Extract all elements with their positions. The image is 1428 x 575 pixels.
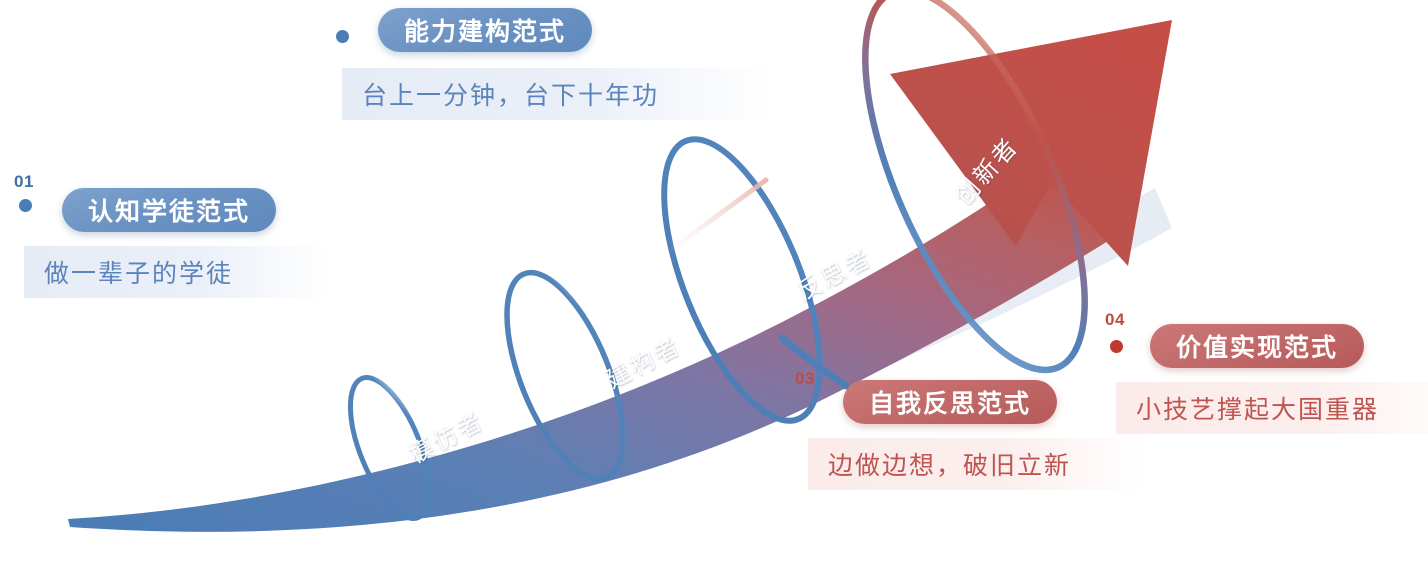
- callout-04-pill[interactable]: 价值实现范式: [1150, 324, 1364, 368]
- callout-04-number: 04: [1105, 310, 1125, 330]
- callout-03-pill[interactable]: 自我反思范式: [843, 380, 1057, 424]
- callout-01-number: 01: [14, 172, 34, 192]
- callout-02-subtitle: 台上一分钟，台下十年功: [342, 68, 772, 120]
- callout-03-number: 03: [795, 369, 815, 389]
- callout-01-pill[interactable]: 认知学徒范式: [62, 188, 276, 232]
- callout-01-subtitle: 做一辈子的学徒: [24, 246, 330, 298]
- callout-04-subtitle: 小技艺撑起大国重器: [1116, 382, 1428, 434]
- callout-04-dot: [1110, 340, 1123, 353]
- callout-01-dot: [19, 199, 32, 212]
- callout-02-pill[interactable]: 能力建构范式: [378, 8, 592, 52]
- diagram-canvas: 模仿者 建构者 反思者 创新者 01 认知学徒范式 做一辈子的学徒 能力建构范式…: [0, 0, 1428, 575]
- callout-03-subtitle: 边做边想，破旧立新: [808, 438, 1148, 490]
- callout-02-dot: [336, 30, 349, 43]
